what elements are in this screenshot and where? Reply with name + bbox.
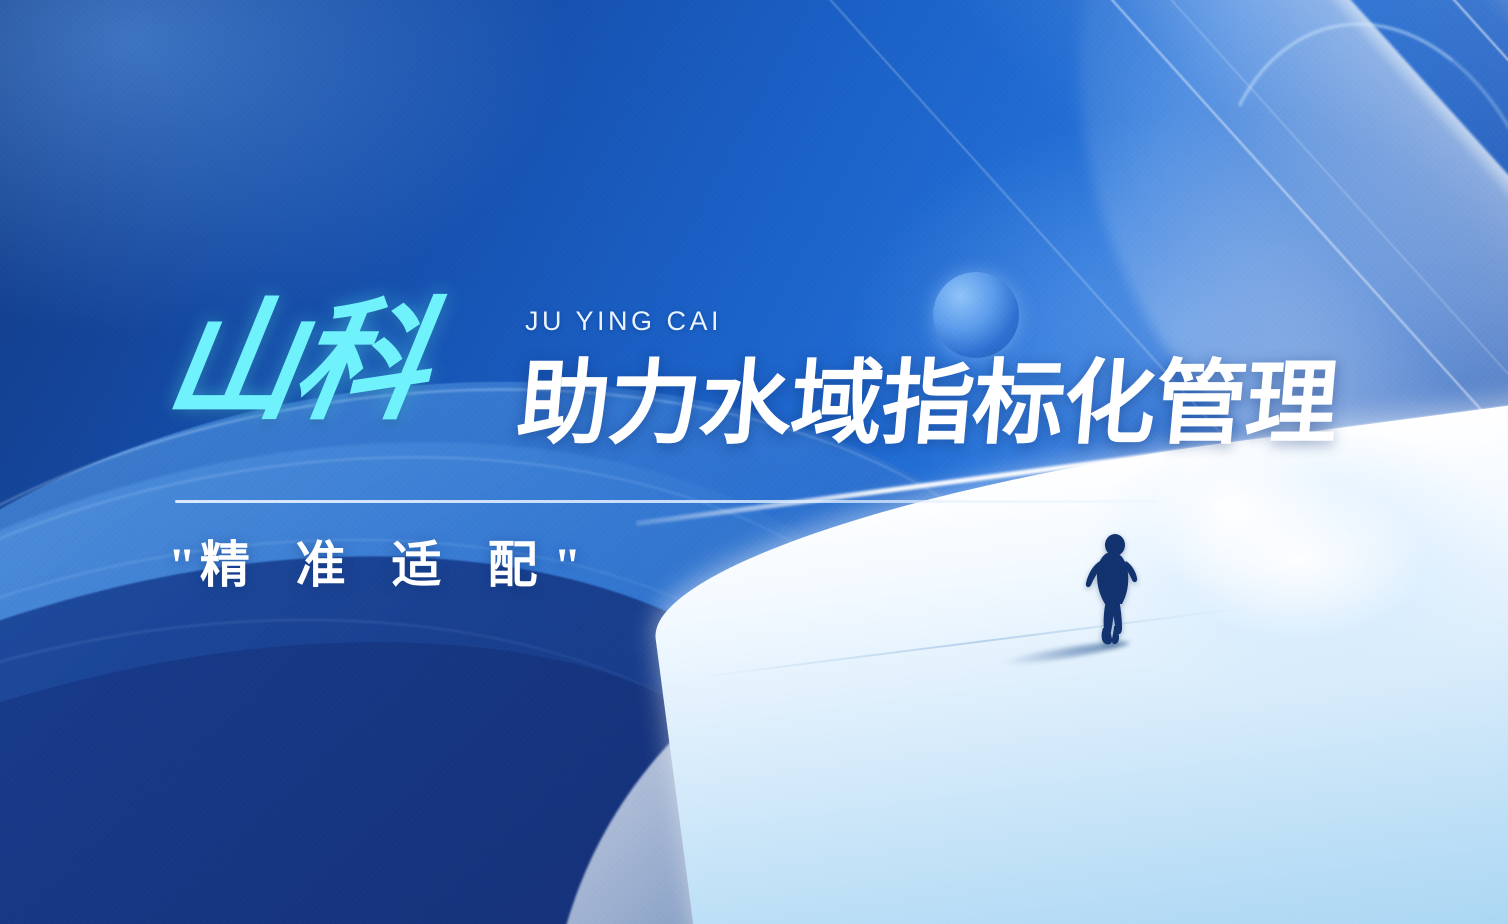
brand-name-cn: 山科 — [158, 296, 435, 428]
tagline: "精 准 适 配" — [168, 540, 585, 590]
divider — [175, 500, 1157, 503]
banner-content: 山科 JU YING CAI 助力水域指标化管理 "精 准 适 配" — [0, 0, 1508, 924]
promo-banner: 山科 JU YING CAI 助力水域指标化管理 "精 准 适 配" — [0, 0, 1508, 924]
quote-close: " — [553, 537, 585, 593]
tagline-text: 精 准 适 配 — [200, 537, 554, 593]
quote-open: " — [168, 537, 200, 593]
brand-logo: 山科 — [168, 296, 424, 428]
page-title: 助力水域指标化管理 — [514, 358, 1341, 450]
brand-name-en: JU YING CAI — [525, 306, 722, 337]
